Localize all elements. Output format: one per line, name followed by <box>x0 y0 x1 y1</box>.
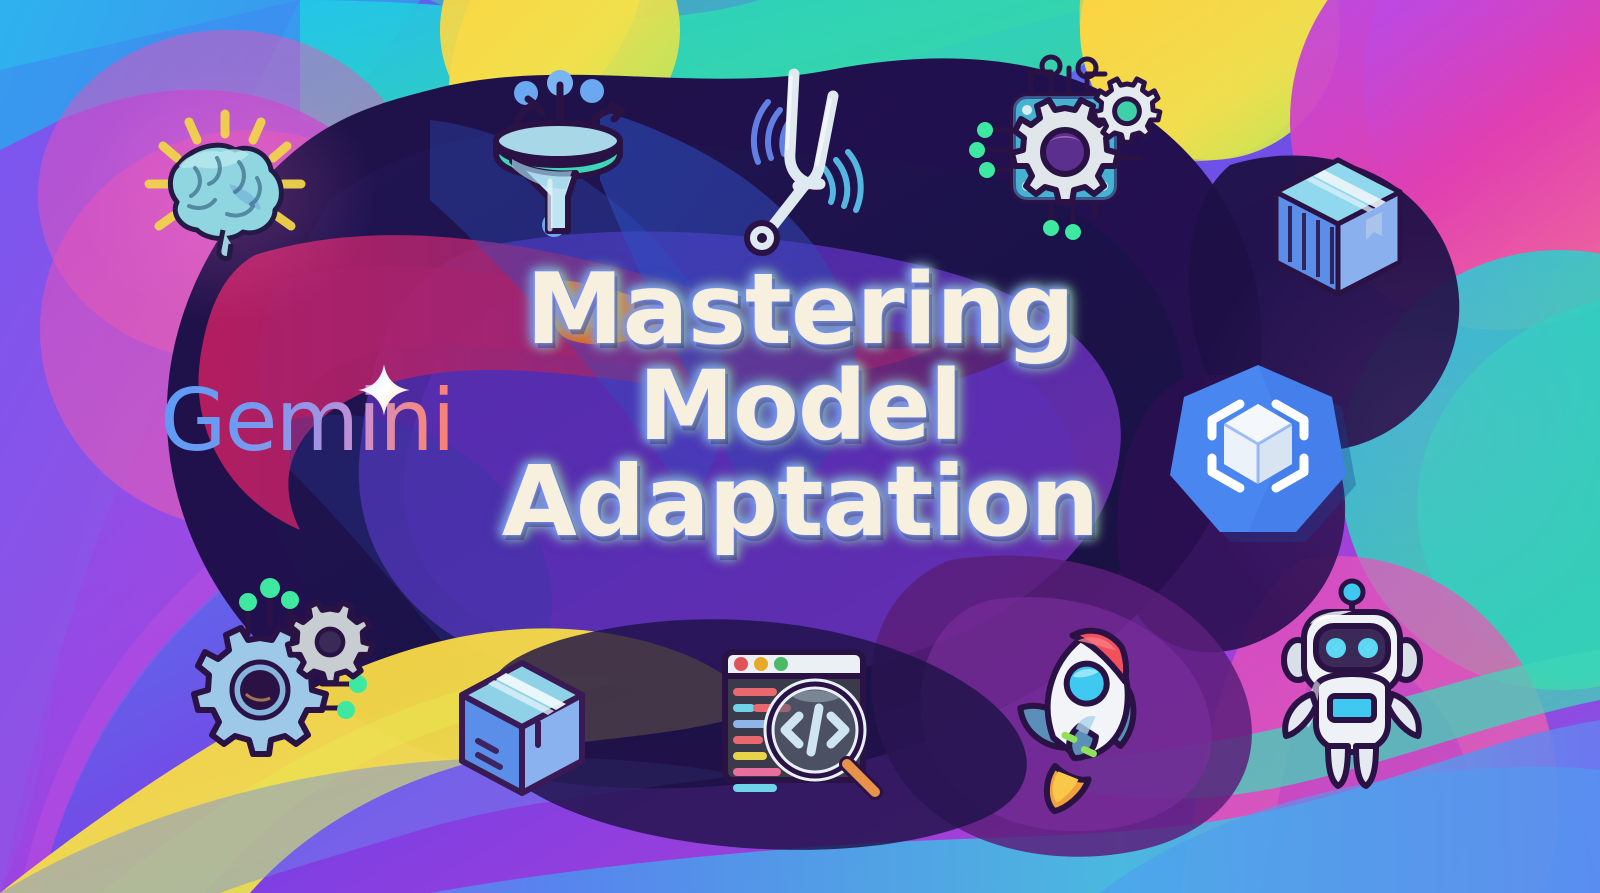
container-box-icon <box>1276 160 1400 294</box>
package-box-icon <box>462 663 582 793</box>
background-artwork <box>0 0 1600 893</box>
banner-canvas: Gemini Mastering Model Adaptation <box>0 0 1600 893</box>
code-inspect-icon <box>725 652 875 792</box>
